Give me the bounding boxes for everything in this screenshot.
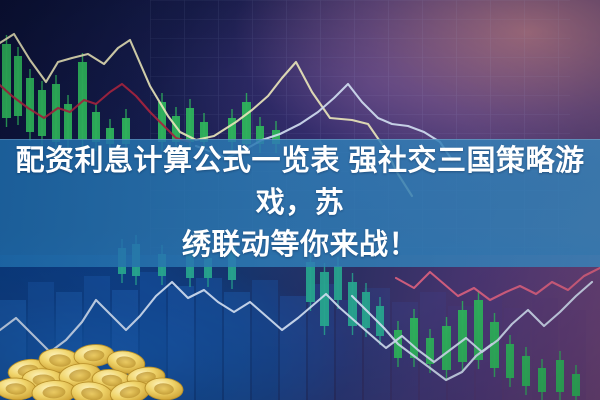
title-band: 配资利息计算公式一览表 强社交三国策略游戏，苏 绣联动等你来战！ — [0, 139, 600, 267]
gold-coins-illustration — [0, 312, 190, 400]
banner-title-line-2: 绣联动等你来战！ — [8, 224, 592, 266]
banner-title-line-1: 配资利息计算公式一览表 强社交三国策略游戏，苏 — [8, 140, 592, 224]
promo-banner: 配资利息计算公式一览表 强社交三国策略游戏，苏 绣联动等你来战！ — [0, 0, 600, 400]
